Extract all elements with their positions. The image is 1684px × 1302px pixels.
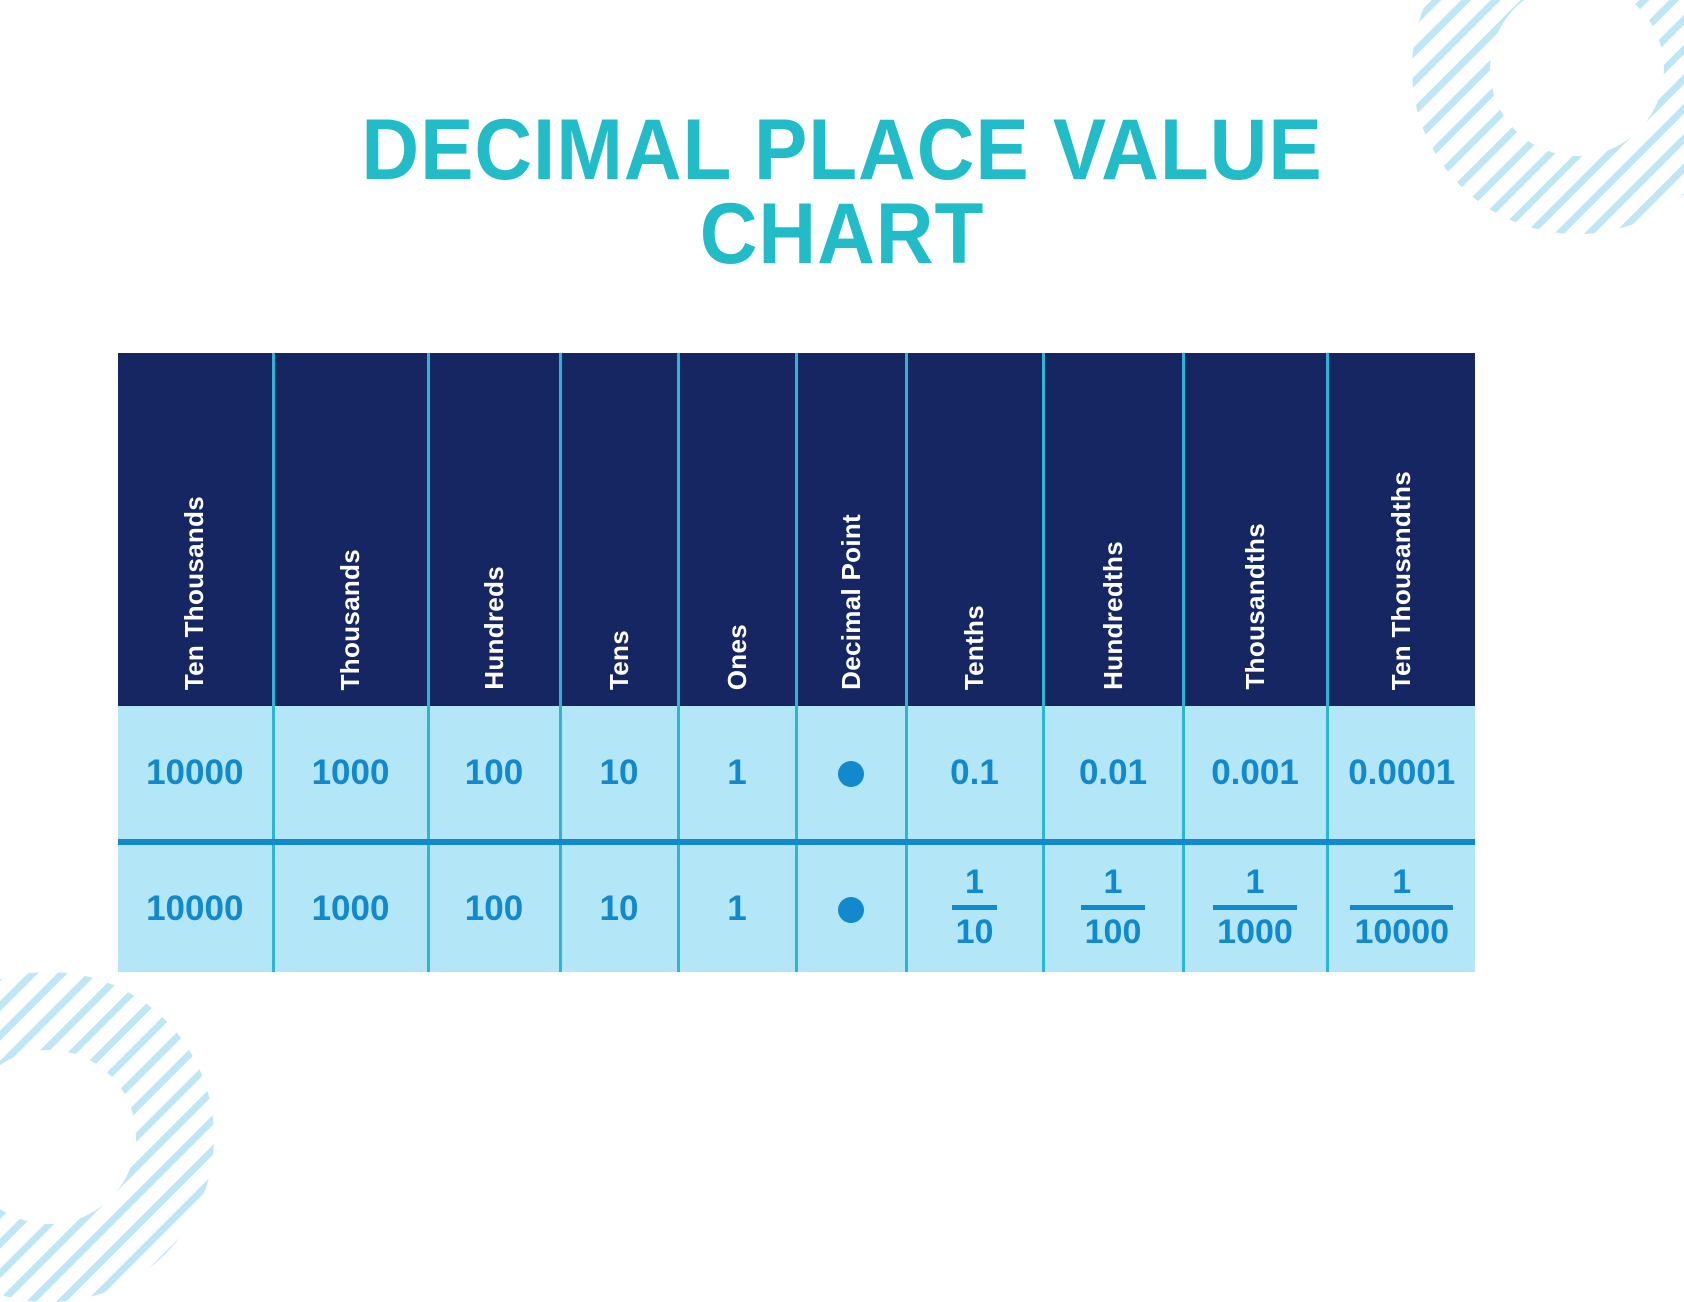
column-header-label: Ones [722, 624, 753, 690]
column-header-label: Tens [604, 630, 635, 690]
cell-value-text: 10000 [146, 889, 243, 928]
table-header-row: Ten ThousandsThousandsHundredsTensOnesDe… [118, 353, 1475, 706]
striped-ring-bottom-left-decoration [0, 972, 214, 1302]
cell-value: 10 [560, 842, 678, 972]
fraction-bar [1213, 905, 1297, 910]
fraction-denominator: 1000 [1211, 914, 1299, 951]
cell-value: 1000 [273, 842, 428, 972]
decimal-point-dot-icon [838, 761, 864, 787]
cell-value-text: 1000 [312, 753, 390, 792]
cell-value-text: 1000 [312, 889, 390, 928]
page-title-line-one: DECIMAL PLACE VALUE [59, 108, 1625, 192]
fraction-bar [952, 905, 998, 910]
column-header-thousandths: Thousandths [1183, 353, 1327, 706]
decimal-place-value-table: Ten ThousandsThousandsHundredsTensOnesDe… [118, 353, 1475, 972]
cell-value: 1 [678, 706, 796, 842]
fraction-bar [1081, 905, 1146, 910]
column-header-label: Hundredths [1098, 541, 1129, 690]
cell-value: 0.0001 [1327, 706, 1475, 842]
column-header-label: Thousands [335, 549, 366, 690]
cell-value: 1 [678, 842, 796, 972]
cell-value: 0.001 [1183, 706, 1327, 842]
cell-value: 0.01 [1043, 706, 1183, 842]
fraction-denominator: 100 [1079, 914, 1148, 951]
page-title: DECIMAL PLACE VALUE CHART DECIMAL PLACE … [59, 108, 1625, 277]
striped-ring-bottom-left-hole [0, 1050, 136, 1224]
column-header-label: Tenths [959, 605, 990, 690]
cell-fraction-value: 110000 [1327, 842, 1475, 972]
decimal-point-dot-icon [796, 706, 906, 842]
cell-value: 0.1 [906, 706, 1043, 842]
column-header-thousands: Thousands [273, 353, 428, 706]
cell-value: 100 [428, 842, 560, 972]
cell-value-text: 0.001 [1211, 753, 1299, 792]
fraction-numerator: 1 [950, 865, 1000, 904]
fraction-denominator: 10000 [1348, 914, 1455, 951]
cell-value: 100 [428, 706, 560, 842]
cell-value-text: 0.01 [1079, 753, 1147, 792]
cell-value: 10 [560, 706, 678, 842]
fraction-numerator: 1 [1079, 865, 1148, 904]
cell-value-text: 10 [600, 753, 639, 792]
column-header-tenths: Tenths [906, 353, 1043, 706]
cell-fraction-value: 11000 [1183, 842, 1327, 972]
fraction-denominator: 10 [950, 914, 1000, 951]
column-header-label: Ten Thousands [179, 496, 210, 690]
column-header-hundreds: Hundreds [428, 353, 560, 706]
fraction: 110 [950, 865, 1000, 951]
column-header-label: Decimal Point [836, 514, 867, 690]
decimal-point-dot-icon [796, 842, 906, 972]
cell-value-text: 10 [600, 889, 639, 928]
fraction: 1100 [1079, 865, 1148, 951]
fraction-numerator: 1 [1211, 865, 1299, 904]
fraction: 11000 [1211, 865, 1299, 951]
decimal-point-dot-icon [838, 897, 864, 923]
fraction-bar [1350, 905, 1453, 910]
table-row-fraction-values: 100001000100101110110011000110000 [118, 842, 1475, 972]
column-header-decimal-point: Decimal Point [796, 353, 906, 706]
cell-value-text: 1 [727, 889, 746, 928]
column-header-label: Thousandths [1240, 523, 1271, 690]
fraction: 110000 [1348, 865, 1455, 951]
fraction-numerator: 1 [1348, 865, 1455, 904]
cell-value: 10000 [118, 842, 273, 972]
column-header-ten-thousands: Ten Thousands [118, 353, 273, 706]
table-row-decimal-values: 1000010001001010.10.010.0010.0001 [118, 706, 1475, 842]
cell-value-text: 100 [465, 753, 523, 792]
cell-value-text: 100 [465, 889, 523, 928]
column-header-ones: Ones [678, 353, 796, 706]
cell-fraction-value: 110 [906, 842, 1043, 972]
cell-fraction-value: 1100 [1043, 842, 1183, 972]
cell-value-text: 1 [727, 753, 746, 792]
cell-value: 1000 [273, 706, 428, 842]
cell-value-text: 0.1 [950, 753, 999, 792]
column-header-hundredths: Hundredths [1043, 353, 1183, 706]
cell-value-text: 0.0001 [1348, 753, 1455, 792]
page-title-line-two: CHART [59, 192, 1625, 276]
column-header-label: Hundreds [479, 566, 510, 690]
column-header-ten-thousandths: Ten Thousandths [1327, 353, 1475, 706]
column-header-tens: Tens [560, 353, 678, 706]
column-header-label: Ten Thousandths [1386, 471, 1417, 690]
cell-value-text: 10000 [146, 753, 243, 792]
cell-value: 10000 [118, 706, 273, 842]
